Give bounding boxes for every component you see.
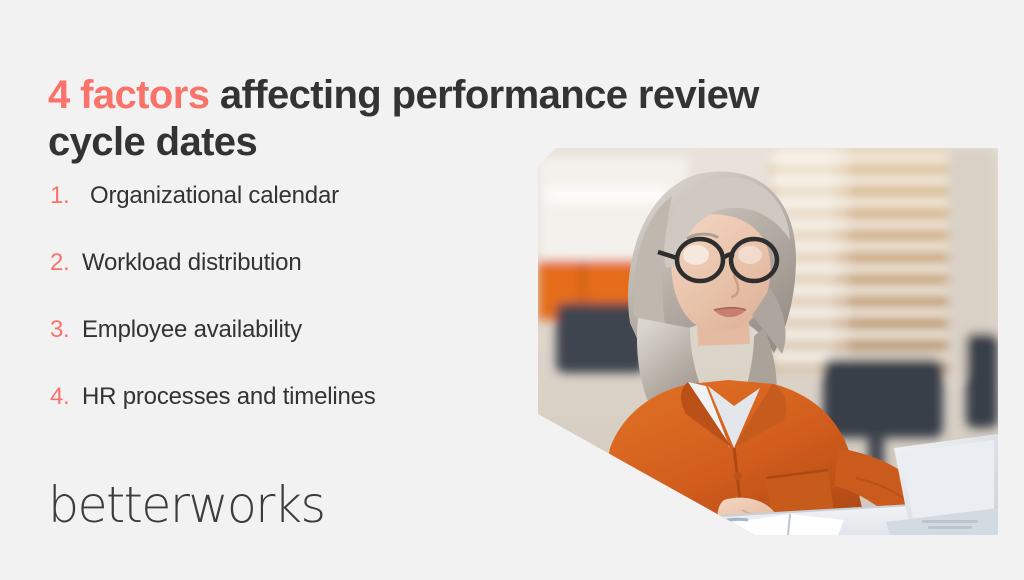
list-item-number: 4. (50, 383, 82, 411)
list-item-number: 2. (50, 249, 82, 277)
list-item-number: 1. (50, 182, 82, 210)
factor-list: 1. Organizational calendar 2. Workload d… (50, 182, 520, 450)
betterworks-logo: betterworks (48, 480, 324, 530)
slide-canvas: 4 factors affecting performance review c… (0, 0, 1024, 580)
list-item-label: HR processes and timelines (82, 383, 376, 411)
page-title-accent: 4 factors (48, 73, 209, 117)
list-item-label: Organizational calendar (82, 182, 339, 210)
list-item-label: Employee availability (82, 316, 302, 344)
list-item: 1. Organizational calendar (50, 182, 520, 249)
list-item: 4. HR processes and timelines (50, 383, 520, 450)
hero-photo-illustration (538, 148, 998, 535)
list-item-label: Workload distribution (82, 249, 301, 277)
list-item-number: 3. (50, 316, 82, 344)
hero-photo (538, 148, 998, 535)
list-item: 3. Employee availability (50, 316, 520, 383)
list-item: 2. Workload distribution (50, 249, 520, 316)
